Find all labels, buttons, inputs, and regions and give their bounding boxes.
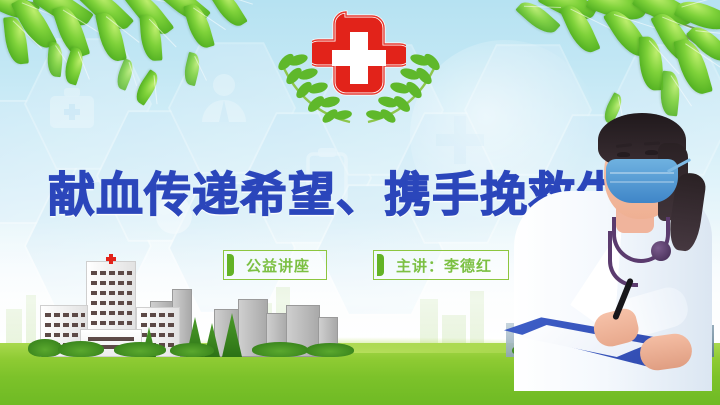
bush bbox=[58, 341, 104, 357]
presentation-slide: 献血传递希望、携手挽救生命 公益讲座 主讲：李德红 bbox=[0, 0, 720, 405]
female-doctor-illustration bbox=[508, 61, 720, 391]
bush bbox=[170, 343, 214, 357]
doctor-eye-left bbox=[617, 152, 630, 157]
cross-glyph-icon bbox=[312, 10, 406, 104]
doctor-face-mask bbox=[606, 159, 678, 203]
bush bbox=[306, 343, 354, 357]
red-medical-cross-emblem bbox=[288, 8, 430, 120]
chip-speaker[interactable]: 主讲：李德红 bbox=[373, 250, 509, 280]
medical-bag-icon bbox=[44, 82, 100, 134]
chip-accent-bar bbox=[377, 254, 384, 276]
city-skyline-left bbox=[18, 247, 348, 357]
chip-speaker-label: 主讲：李德红 bbox=[396, 255, 492, 276]
stethoscope-bell bbox=[651, 241, 671, 261]
bush bbox=[28, 339, 62, 357]
bush bbox=[114, 342, 166, 357]
doctor-eye-right bbox=[645, 150, 658, 155]
bush bbox=[252, 342, 308, 357]
